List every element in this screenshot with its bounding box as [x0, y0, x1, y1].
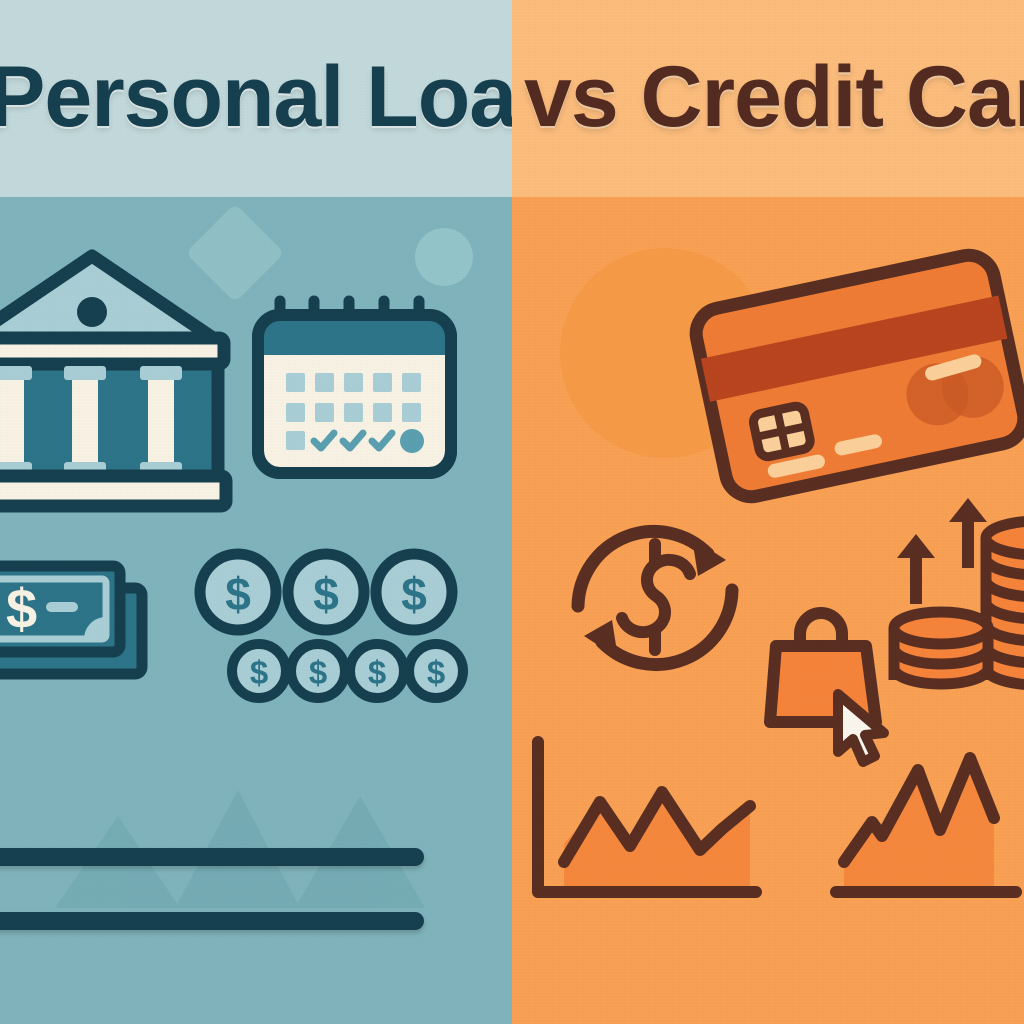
coins-icon: $ $ $ $ $ — [196, 548, 466, 700]
line-chart-icon — [522, 734, 822, 926]
svg-text:$: $ — [250, 654, 268, 691]
banknote-icon: $ — [0, 552, 170, 692]
divider-bar-icon — [0, 912, 424, 930]
coin-stacks-icon — [882, 496, 1024, 708]
svg-text:$: $ — [313, 568, 339, 620]
svg-text:$: $ — [368, 654, 386, 691]
panel-credit-card: vs Credit Card — [512, 0, 1024, 1024]
right-panel-title: vs Credit Card — [524, 54, 1024, 140]
credit-card-icon — [680, 240, 1024, 512]
infographic-canvas: Personal Loan — [0, 0, 1024, 1024]
revolving-credit-icon — [560, 502, 750, 692]
svg-text:$: $ — [401, 568, 427, 620]
circle-decoration-icon — [415, 228, 473, 286]
panel-personal-loan: Personal Loan — [0, 0, 512, 1024]
svg-text:$: $ — [225, 568, 251, 620]
divider-bar-icon — [0, 848, 424, 866]
svg-text:$: $ — [309, 654, 327, 691]
line-chart-icon — [830, 734, 1024, 926]
svg-text:$: $ — [6, 577, 37, 640]
calendar-icon — [252, 295, 457, 480]
bank-building-icon — [0, 240, 226, 520]
svg-text:$: $ — [427, 654, 445, 691]
mountain-silhouette-icon — [0, 768, 512, 908]
left-panel-title: Personal Loan — [0, 54, 512, 140]
